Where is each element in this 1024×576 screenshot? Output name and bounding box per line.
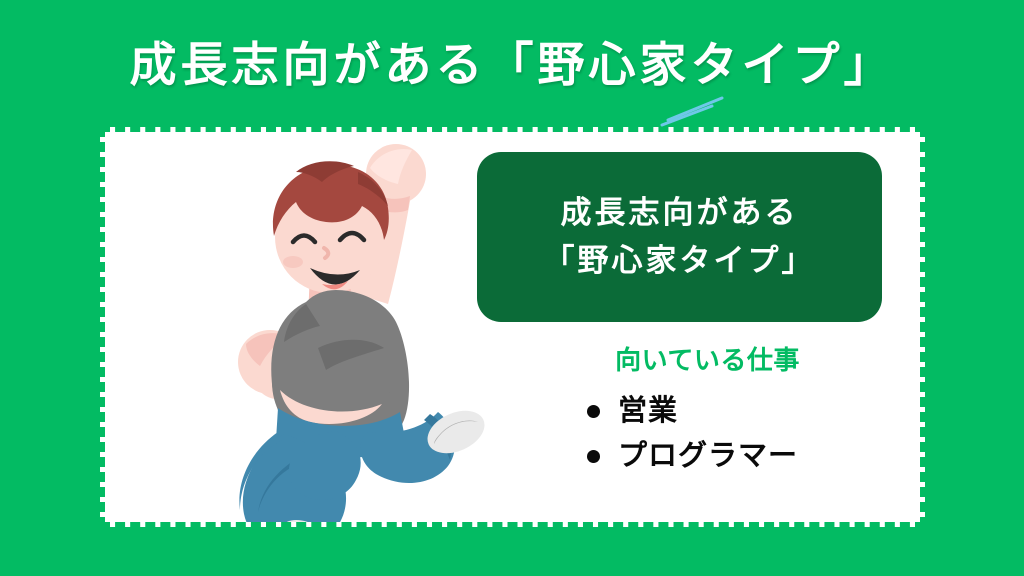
type-badge-line-2: 「野心家タイプ」 [544,237,816,285]
right-column: 成長志向がある 「野心家タイプ」 向いている仕事 営業 プログラマー [477,127,907,527]
content-card: 成長志向がある 「野心家タイプ」 向いている仕事 営業 プログラマー [100,127,925,527]
page-title: 成長志向がある「野心家タイプ」 [130,38,895,92]
bullet-icon [587,405,600,418]
job-label: 営業 [618,389,678,434]
job-label: プログラマー [618,434,798,479]
type-badge: 成長志向がある 「野心家タイプ」 [477,152,882,322]
jobs-list: 営業 プログラマー [587,389,798,479]
slide-root: 成長志向がある「野心家タイプ」 [0,0,1024,576]
slide-title-container: 成長志向がある「野心家タイプ」 [0,38,1024,92]
list-item: プログラマー [587,434,798,479]
jobs-heading: 向いている仕事 [505,340,910,377]
type-badge-line-1: 成長志向がある [561,189,799,237]
jumping-man-illustration [160,132,490,522]
list-item: 営業 [587,389,798,434]
bullet-icon [587,450,600,463]
title-accent-strokes-icon [660,92,732,128]
